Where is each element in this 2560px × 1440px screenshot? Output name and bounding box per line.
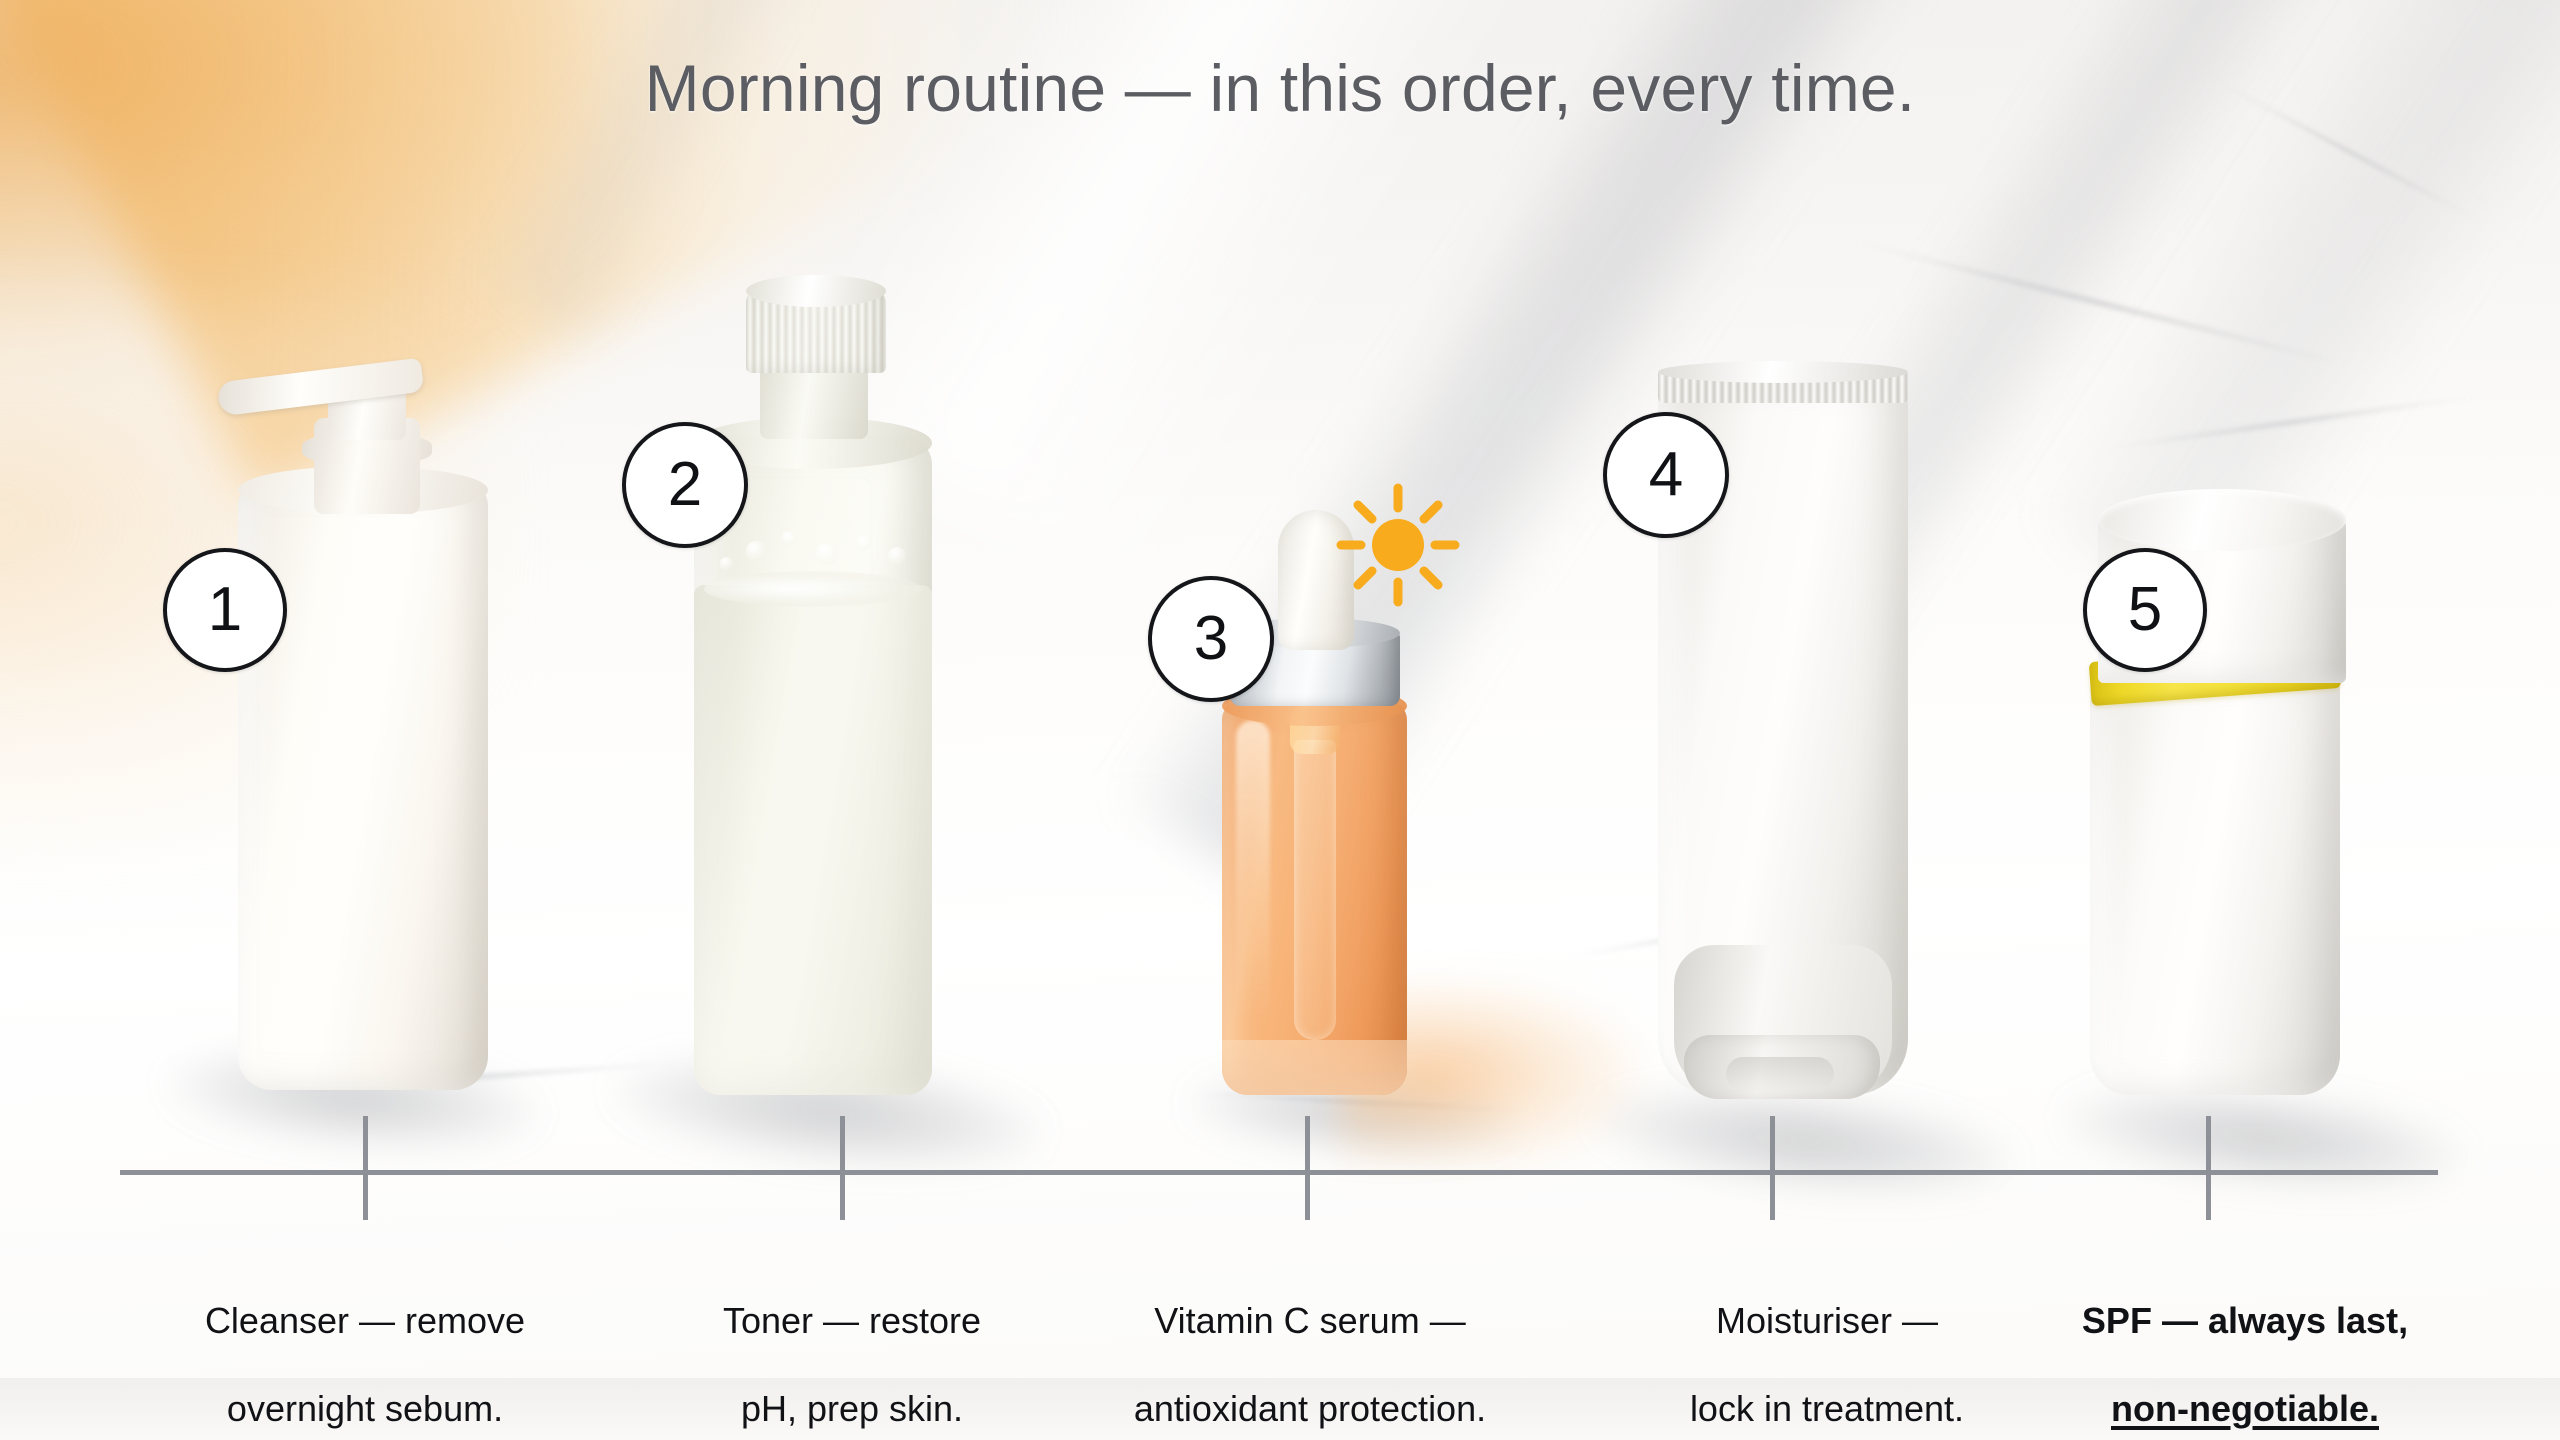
timeline-tick-5: [2206, 1116, 2211, 1220]
step-badge-2: 2: [622, 422, 748, 548]
cap-top: [746, 275, 886, 307]
bubble: [782, 531, 797, 546]
step-number: 5: [2128, 579, 2162, 641]
product-cleanser-pump-bottle: [210, 370, 510, 1090]
timeline-tick-2: [840, 1116, 845, 1220]
infographic-canvas: 1 2 3 4 5 Cleanser — remove overnight se…: [0, 0, 2560, 1440]
step-caption-3: Vitamin C serum — antioxidant protection…: [1040, 1255, 1580, 1440]
step-caption-5: SPF — always last, non-negotiable.: [1980, 1255, 2510, 1440]
product-toner-bottle: [660, 285, 960, 1095]
timeline-axis: [120, 1170, 2438, 1175]
timeline-tick-1: [363, 1116, 368, 1220]
bubble: [856, 535, 872, 551]
liquid-surface-foam: [704, 571, 922, 607]
bubble: [720, 557, 733, 570]
dropper-pipette: [1294, 740, 1336, 1040]
spf-body: [2090, 675, 2340, 1095]
caption-line-underlined: non-negotiable.: [1980, 1387, 2510, 1431]
caption-line: antioxidant protection.: [1040, 1387, 1580, 1431]
caption-line: Vitamin C serum —: [1040, 1299, 1580, 1343]
bubble: [816, 543, 838, 565]
step-number: 4: [1649, 444, 1683, 506]
step-number: 1: [208, 579, 242, 641]
tube-crimp-top: [1658, 361, 1908, 383]
glass-base: [1222, 1040, 1407, 1095]
step-badge-5: 5: [2083, 548, 2207, 672]
page-title: Morning routine — in this order, every t…: [0, 52, 2560, 125]
bottle-body: [238, 480, 488, 1090]
timeline-tick-4: [1770, 1116, 1775, 1220]
spf-cap-top: [2098, 489, 2346, 551]
glass-highlight: [1236, 720, 1270, 1020]
step-badge-1: 1: [163, 548, 287, 672]
caption-line: SPF — always last,: [1980, 1299, 2510, 1343]
bubble: [888, 547, 906, 565]
step-badge-3: 3: [1148, 576, 1274, 702]
timeline-tick-3: [1305, 1116, 1310, 1220]
toner-liquid: [694, 585, 932, 1095]
sun-icon: [1333, 480, 1463, 610]
step-number: 2: [668, 454, 702, 516]
step-number: 3: [1194, 608, 1228, 670]
cap-notch: [1726, 1057, 1834, 1091]
step-badge-4: 4: [1603, 412, 1729, 538]
bubble: [746, 541, 766, 561]
